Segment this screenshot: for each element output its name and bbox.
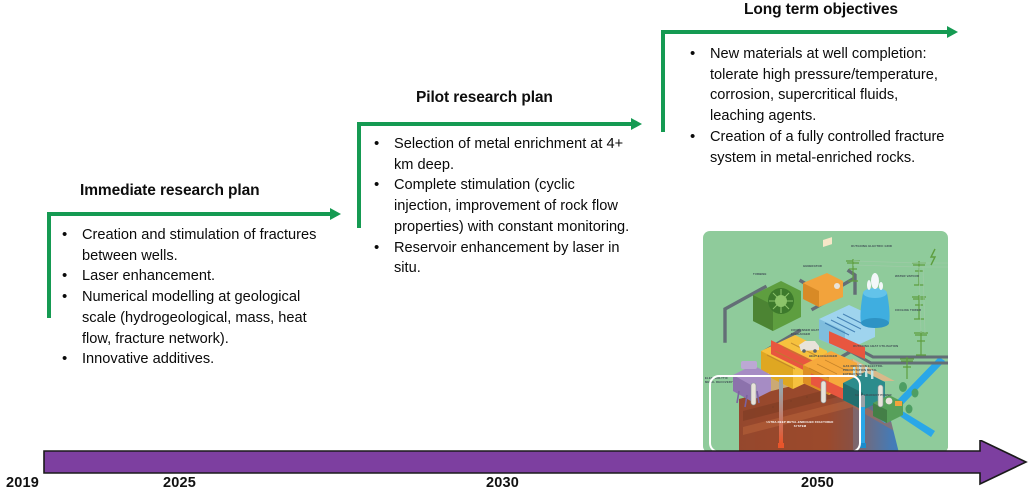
bracket-stem	[357, 122, 361, 228]
arrow-head-icon	[330, 208, 341, 220]
phase-title-immediate: Immediate research plan	[80, 183, 259, 199]
bracket-beam	[661, 30, 947, 34]
phase-bullets-long-term: New materials at well completion: tolera…	[684, 44, 952, 168]
bracket-stem	[661, 30, 665, 132]
illustration-label-condenser-heat-exchanger: CONDENSER HEAT EXCHANGER	[791, 329, 825, 337]
list-item: Creation and stimulation of fractures be…	[56, 225, 318, 266]
lightning-icon	[931, 249, 935, 265]
list-item: Laser enhancement.	[56, 266, 318, 287]
axis-year-2019: 2019	[6, 475, 39, 491]
illustration-label-heat-exchanger: HEAT EXCHANGER	[809, 355, 837, 359]
list-item: Selection of metal enrichment at 4+ km d…	[368, 134, 636, 175]
axis-year-2030: 2030	[486, 475, 519, 491]
list-item: Numerical modelling at geological scale …	[56, 287, 318, 349]
list-item: Innovative additives.	[56, 349, 318, 370]
bracket-stem	[47, 212, 51, 318]
list-item: Creation of a fully controlled fracture …	[684, 127, 952, 168]
phase-bullets-immediate: Creation and stimulation of fractures be…	[56, 225, 318, 370]
list-item: New materials at well completion: tolera…	[684, 44, 952, 127]
arrow-head-icon	[947, 26, 958, 38]
phase-title-long-term: Long term objectives	[744, 2, 898, 18]
illustration-label-water-vapour: WATER VAPOUR	[895, 275, 919, 279]
axis-year-2050: 2050	[801, 475, 834, 491]
illustration-label-outgoing-electric-grid: OUTGOING ELECTRIC GRID	[851, 245, 892, 249]
illustration-frame: TURBINE GENERATOR CONDENSER HEAT EXCHANG…	[703, 231, 948, 453]
bracket-beam	[357, 122, 631, 126]
phase-title-pilot: Pilot research plan	[416, 90, 553, 106]
illustration-label-cooling-tower: COOLING TOWER	[895, 309, 921, 313]
axis-year-2025: 2025	[163, 475, 196, 491]
illustration-label-generator: GENERATOR	[803, 265, 822, 269]
illustration-label-outgoing-heat-utilisation: OUTGOING HEAT UTILISATION	[853, 345, 898, 349]
bracket-beam	[47, 212, 330, 216]
list-item: Complete stimulation (cyclic injection, …	[368, 175, 636, 237]
phase-bullets-pilot: Selection of metal enrichment at 4+ km d…	[368, 134, 636, 279]
illustration-label-turbine: TURBINE	[753, 273, 766, 277]
roadmap-diagram: Long term objectives New materials at we…	[0, 0, 1030, 499]
arrow-head-icon	[631, 118, 642, 130]
list-item: Reservoir enhancement by laser in situ.	[368, 238, 636, 279]
geothermal-plant-illustration: TURBINE GENERATOR CONDENSER HEAT EXCHANG…	[703, 231, 948, 453]
